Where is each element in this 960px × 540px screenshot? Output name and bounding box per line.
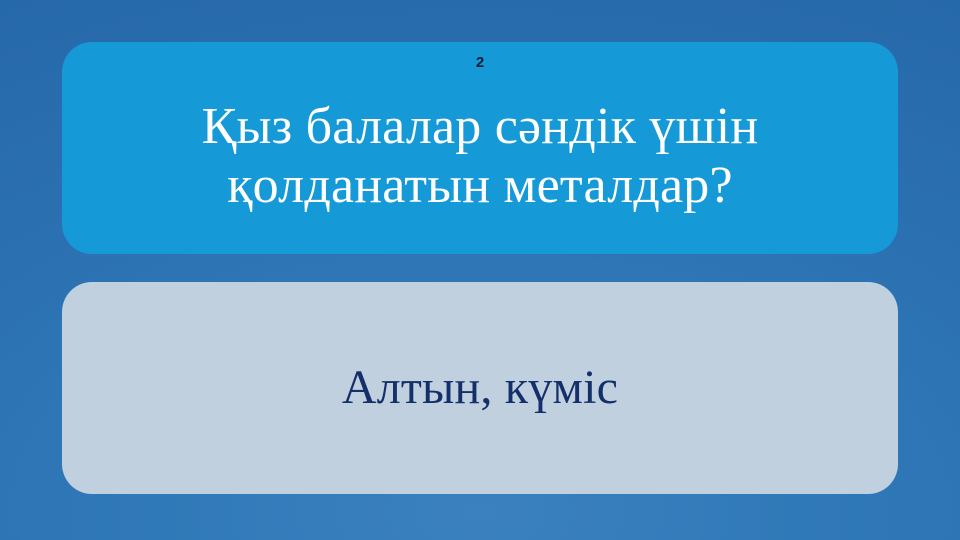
- answer-text: Алтын, күміс: [342, 360, 618, 415]
- question-card[interactable]: 2 Қыз балалар сәндік үшін қолданатын мет…: [62, 42, 898, 254]
- quiz-slide: 2 Қыз балалар сәндік үшін қолданатын мет…: [0, 0, 960, 540]
- answer-card[interactable]: Алтын, күміс: [62, 282, 898, 494]
- question-text-wrapper: Қыз балалар сәндік үшін қолданатын метал…: [88, 66, 872, 246]
- question-text: Қыз балалар сәндік үшін қолданатын метал…: [88, 97, 872, 216]
